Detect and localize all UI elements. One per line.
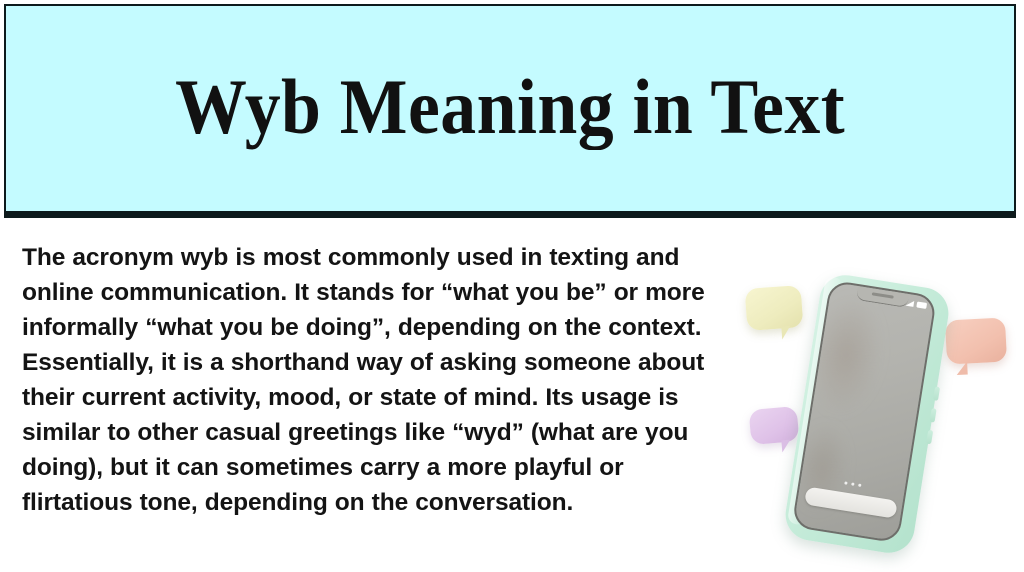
phone-side-button [930, 408, 937, 423]
page-root: Wyb Meaning in Text The acronym wyb is m… [0, 0, 1024, 572]
phone-side-button [926, 430, 933, 445]
typing-dot [851, 482, 854, 485]
phone-side-button [933, 386, 940, 401]
bubble-tail [781, 440, 791, 453]
battery-icon [916, 301, 927, 308]
phone-illustration [740, 250, 1024, 572]
page-title: Wyb Meaning in Text [175, 68, 845, 146]
bubble-tail [781, 326, 791, 340]
typing-dot [858, 484, 861, 487]
article-body: The acronym wyb is most commonly used in… [22, 240, 712, 520]
typing-indicator-icon [844, 481, 861, 487]
signal-icon [905, 300, 914, 307]
article-paragraph: The acronym wyb is most commonly used in… [22, 240, 712, 520]
header-banner: Wyb Meaning in Text [4, 4, 1016, 218]
bubble-tail [956, 361, 968, 375]
smartphone-graphic [782, 271, 952, 556]
status-bar-icons [905, 300, 927, 309]
earpiece-speaker-icon [872, 292, 894, 298]
typing-dot [844, 481, 847, 484]
message-input-pill [804, 486, 898, 518]
speech-bubble-yellow-icon [745, 285, 804, 331]
speech-bubble-purple-icon [749, 406, 800, 445]
speech-bubble-pink-icon [945, 317, 1007, 364]
